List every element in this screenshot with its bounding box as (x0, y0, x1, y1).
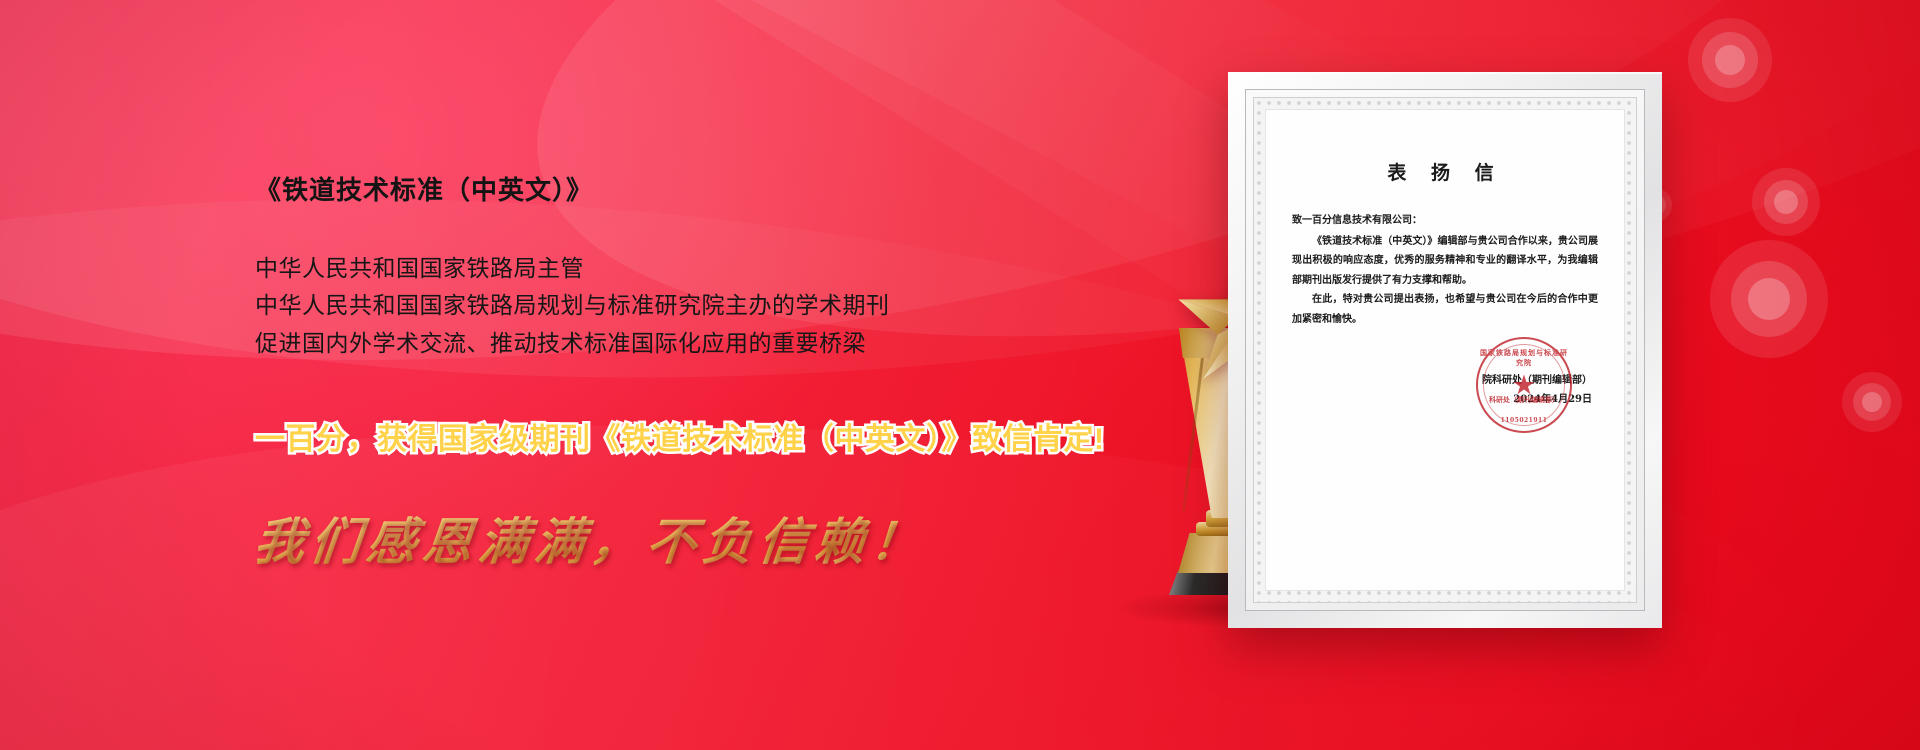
subtitle-line-2: 中华人民共和国国家铁路局规划与标准研究院主办的学术期刊 (255, 287, 1155, 324)
certificate-title: 表 扬 信 (1292, 158, 1598, 185)
certificate-frame: 表 扬 信 致一百分信息技术有限公司： 《铁道技术标准（中英文）》编辑部与贵公司… (1228, 72, 1662, 628)
seal-top-text: 国家铁路局规划与标准研究院 (1478, 348, 1570, 368)
bokeh-circle (1688, 18, 1772, 102)
seal-mid-text: 科研处（期刊编辑部） (1478, 395, 1570, 405)
seal-bottom-text: 1105021911 (1478, 417, 1570, 424)
subtitle-line-1: 中华人民共和国国家铁路局主管 (255, 250, 1155, 287)
bokeh-circle (1752, 168, 1820, 236)
certificate-salutation: 致一百分信息技术有限公司： (1292, 211, 1598, 231)
official-seal-icon: 国家铁路局规划与标准研究院 ★ 科研处（期刊编辑部） 1105021911 (1476, 337, 1572, 433)
bokeh-circle (1710, 240, 1828, 358)
certificate-paragraph-2: 在此，特对贵公司提出表扬，也希望与贵公司在今后的合作中更加紧密和愉快。 (1292, 290, 1598, 329)
text-column: 《铁道技术标准（中英文）》 中华人民共和国国家铁路局主管 中华人民共和国国家铁路… (255, 175, 1155, 574)
journal-title: 《铁道技术标准（中英文）》 (255, 175, 1155, 206)
frame-bevel: 表 扬 信 致一百分信息技术有限公司： 《铁道技术标准（中英文）》编辑部与贵公司… (1245, 89, 1645, 611)
award-banner: 《铁道技术标准（中英文）》 中华人民共和国国家铁路局主管 中华人民共和国国家铁路… (0, 0, 1920, 750)
calligraphy-slogan: 我们感恩满满，不负信赖！ (251, 502, 931, 574)
certificate-signature: 国家铁路局规划与标准研究院 ★ 科研处（期刊编辑部） 1105021911 院科… (1292, 371, 1598, 409)
headline: 一百分，获得国家级期刊《铁道技术标准（中英文）》致信肯定! (255, 414, 1155, 458)
frame-inner-border: 表 扬 信 致一百分信息技术有限公司： 《铁道技术标准（中英文）》编辑部与贵公司… (1253, 97, 1637, 603)
bokeh-circle (1842, 372, 1902, 432)
subtitle-line-3: 促进国内外学术交流、推动技术标准国际化应用的重要桥梁 (255, 325, 1155, 362)
certificate-paragraph-1: 《铁道技术标准（中英文）》编辑部与贵公司合作以来，贵公司展现出积极的响应态度，优… (1292, 232, 1598, 291)
certificate-paper: 表 扬 信 致一百分信息技术有限公司： 《铁道技术标准（中英文）》编辑部与贵公司… (1265, 109, 1625, 591)
